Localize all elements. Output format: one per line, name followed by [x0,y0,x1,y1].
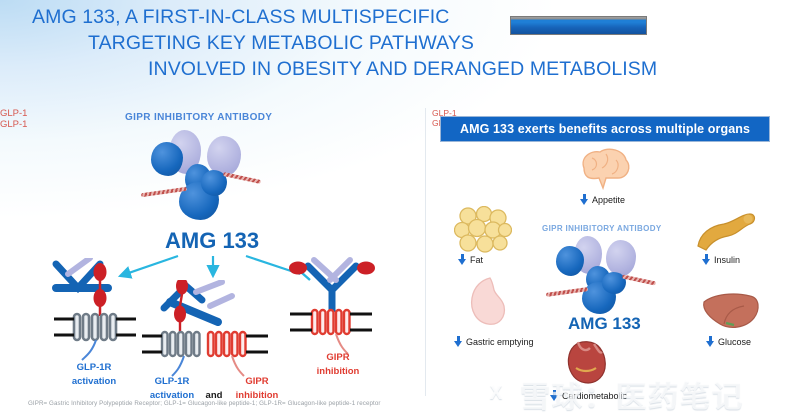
heart-icon [560,338,614,390]
liver-icon [700,290,762,334]
down-arrow-icon [454,336,463,347]
left-antibody-caption: GIPR INHIBITORY ANTIBODY [125,112,272,123]
mechanism-glp1r-activation: GLP-1R activation [38,258,148,388]
title-line-3: INVOLVED IN OBESITY AND DERANGED METABOL… [0,56,790,82]
mech2-right-label-line1: GIPR [226,376,288,387]
title-line-2: TARGETING KEY METABOLIC PATHWAYS [0,30,790,56]
amg133-molecule-icon-right [552,236,656,320]
mechanism-panel: GIPR INHIBITORY ANTIBODY GLP-1 GLP-1 AMG… [0,108,425,398]
title-line-1: AMG 133, A FIRST-IN-CLASS MULTISPECIFIC [0,4,790,30]
amg133-molecule-icon [145,130,265,226]
organ-label-pancreas: Insulin [702,254,740,265]
organ-banner-title: AMG 133 exerts benefits across multiple … [440,116,770,142]
mech3-label-line1: GIPR [284,352,392,363]
slide-canvas: AMG 133, A FIRST-IN-CLASS MULTISPECIFIC … [0,0,800,418]
organ-label-stomach: Gastric emptying [454,336,534,347]
mech3-label-line2: inhibition [284,366,392,377]
down-arrow-icon [458,254,467,265]
organ-label-fat: Fat [458,254,483,265]
organ-benefits-panel: AMG 133 exerts benefits across multiple … [432,108,800,398]
mechanism-gipr-inhibition: GIPR inhibition [278,256,398,376]
down-arrow-icon [706,336,715,347]
down-arrow-icon [580,194,589,205]
mech1-label-line1: GLP-1R [42,362,146,373]
redaction-bar [510,16,647,35]
pancreas-icon [694,208,758,254]
mech1-label-line2: activation [42,376,146,387]
down-arrow-icon [702,254,711,265]
organ-label-brain: Appetite [580,194,625,205]
mechanism-dual-action: GLP-1R activation and GIPR inhibition [140,280,290,410]
panel-divider [425,108,426,396]
right-antibody-caption: GIPR INHIBITORY ANTIBODY [542,224,662,233]
footnote-abbreviations: GIPR= Gastric Inhibitory Polypeptide Rec… [28,400,728,407]
stomach-icon [460,276,516,334]
adipose-tissue-icon [454,206,512,254]
mech2-left-label-line1: GLP-1R [136,376,208,387]
right-amg133-label: AMG 133 [568,314,641,334]
brain-icon [572,146,634,194]
page-title: AMG 133, A FIRST-IN-CLASS MULTISPECIFIC … [0,4,790,82]
organ-label-liver: Glucose [706,336,751,347]
